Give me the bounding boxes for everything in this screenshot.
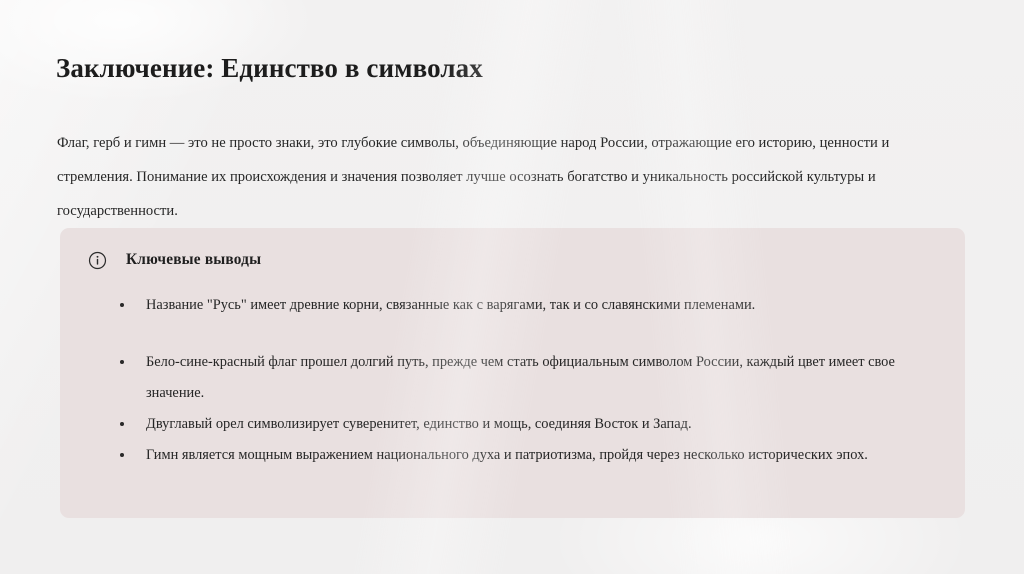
intro-paragraph: Флаг, герб и гимн — это не просто знаки,… (57, 126, 937, 228)
info-circle-icon (88, 251, 107, 270)
list-item-text: Название "Русь" имеет древние корни, свя… (146, 297, 755, 313)
callout-title: Ключевые выводы (126, 250, 261, 270)
callout-header: Ключевые выводы (88, 250, 261, 270)
list-item: Название "Русь" имеет древние корни, свя… (118, 290, 929, 321)
key-conclusions-callout: Ключевые выводы Название "Русь" имеет др… (60, 228, 965, 518)
bullet-dot-icon (120, 360, 124, 364)
bullet-dot-icon (120, 422, 124, 426)
list-item: Гимн является мощным выражением национал… (118, 440, 929, 471)
list-item: Бело-сине-красный флаг прошел долгий пут… (118, 347, 929, 409)
key-conclusions-list: Название "Русь" имеет древние корни, свя… (118, 290, 929, 471)
bullet-dot-icon (120, 453, 124, 457)
list-item-text: Двуглавый орел символизирует суверенитет… (146, 416, 692, 432)
slide-canvas: Заключение: Единство в символах Флаг, ге… (0, 0, 1024, 574)
page-title: Заключение: Единство в символах (56, 50, 483, 86)
list-item-text: Гимн является мощным выражением национал… (146, 447, 868, 463)
bullet-dot-icon (120, 303, 124, 307)
list-item: Двуглавый орел символизирует суверенитет… (118, 409, 929, 440)
list-item-text: Бело-сине-красный флаг прошел долгий пут… (146, 354, 895, 401)
